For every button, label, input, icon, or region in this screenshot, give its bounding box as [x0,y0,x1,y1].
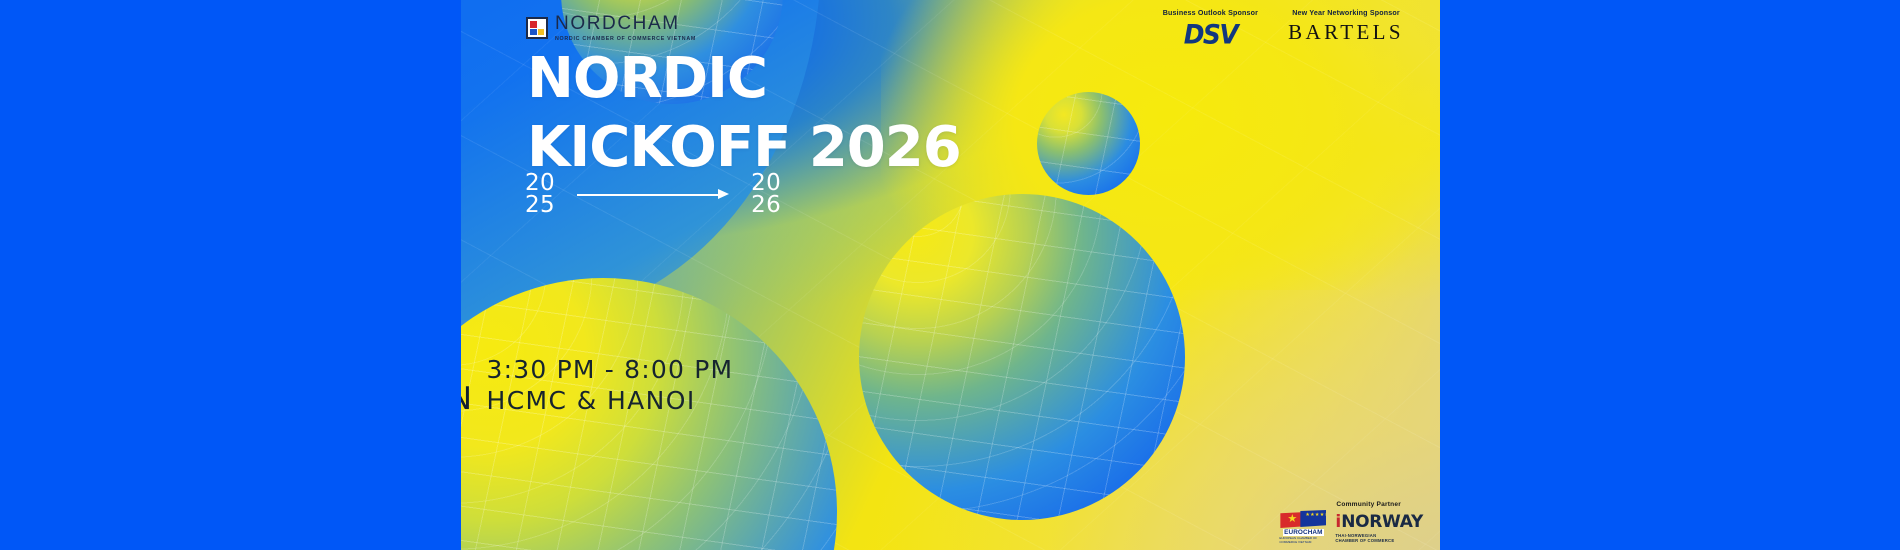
event-date: 22 JAN [461,352,473,415]
year-to: 20 26 [751,172,781,216]
logo-name: NORDCHAM [555,14,696,33]
event-datetime: 22 JAN 3:30 PM - 8:00 PM HCMC & HANOI [461,352,878,417]
eurocham-subtitle: EUROPEAN CHAMBER OF COMMERCE VIETNAM [1279,536,1327,544]
community-partner-block: Community Partner ★★★★★★ EUROCHAM EUROPE… [1279,501,1423,544]
bartels-logo-icon: BARTELS [1288,22,1404,43]
year-to-top: 20 [751,172,781,194]
inorway-subtitle-line-2: CHAMBER OF COMMERCE [1335,538,1394,544]
eu-flag-icon: ★★★★★★ [1300,510,1326,527]
logo-subtitle: NORDIC CHAMBER OF COMMERCE VIETNAM [555,36,696,42]
sponsors-row: Business Outlook Sponsor DSV New Year Ne… [1163,9,1404,47]
arrow-right-icon [577,187,729,201]
year-from-bottom: 25 [525,194,555,216]
sponsor-label: Business Outlook Sponsor [1163,9,1258,17]
gradient-sphere-small-icon [1037,92,1140,195]
sponsor-business-outlook: Business Outlook Sponsor DSV [1163,9,1258,47]
year-from: 20 25 [525,172,555,216]
nordcham-logo: NORDCHAM NORDIC CHAMBER OF COMMERCE VIET… [526,14,696,42]
sponsor-new-year-networking: New Year Networking Sponsor BARTELS [1288,9,1404,47]
event-banner: NORDCHAM NORDIC CHAMBER OF COMMERCE VIET… [461,0,1440,550]
event-month: JAN [461,384,473,416]
eurocham-name: EUROCHAM [1283,529,1323,536]
page-title: NORDIC KICKOFF 2026 [527,50,961,176]
community-partner-label: Community Partner [1336,501,1401,508]
dsv-logo-icon: DSV [1184,21,1237,47]
year-transition: 20 25 20 26 [525,172,781,216]
sponsor-label: New Year Networking Sponsor [1292,9,1400,17]
inorway-logo: i NORWAY THAI-NORWEGIAN CHAMBER OF COMME… [1335,515,1423,544]
eurocham-logo: ★★★★★★ EUROCHAM EUROPEAN CHAMBER OF COMM… [1279,510,1327,544]
eu-flag-stars: ★★★★★★ [1305,513,1323,518]
nordcham-square-mark-icon [526,17,548,39]
year-from-top: 20 [525,172,555,194]
event-time-range: 3:30 PM - 8:00 PM [487,354,734,385]
inorway-name: NORWAY [1341,515,1423,530]
event-locations: HCMC & HANOI [487,385,734,416]
gradient-sphere-right-icon [859,194,1185,520]
headline-line-1: NORDIC [527,50,961,107]
headline-line-2: KICKOFF 2026 [527,119,961,176]
year-to-bottom: 26 [751,194,781,216]
